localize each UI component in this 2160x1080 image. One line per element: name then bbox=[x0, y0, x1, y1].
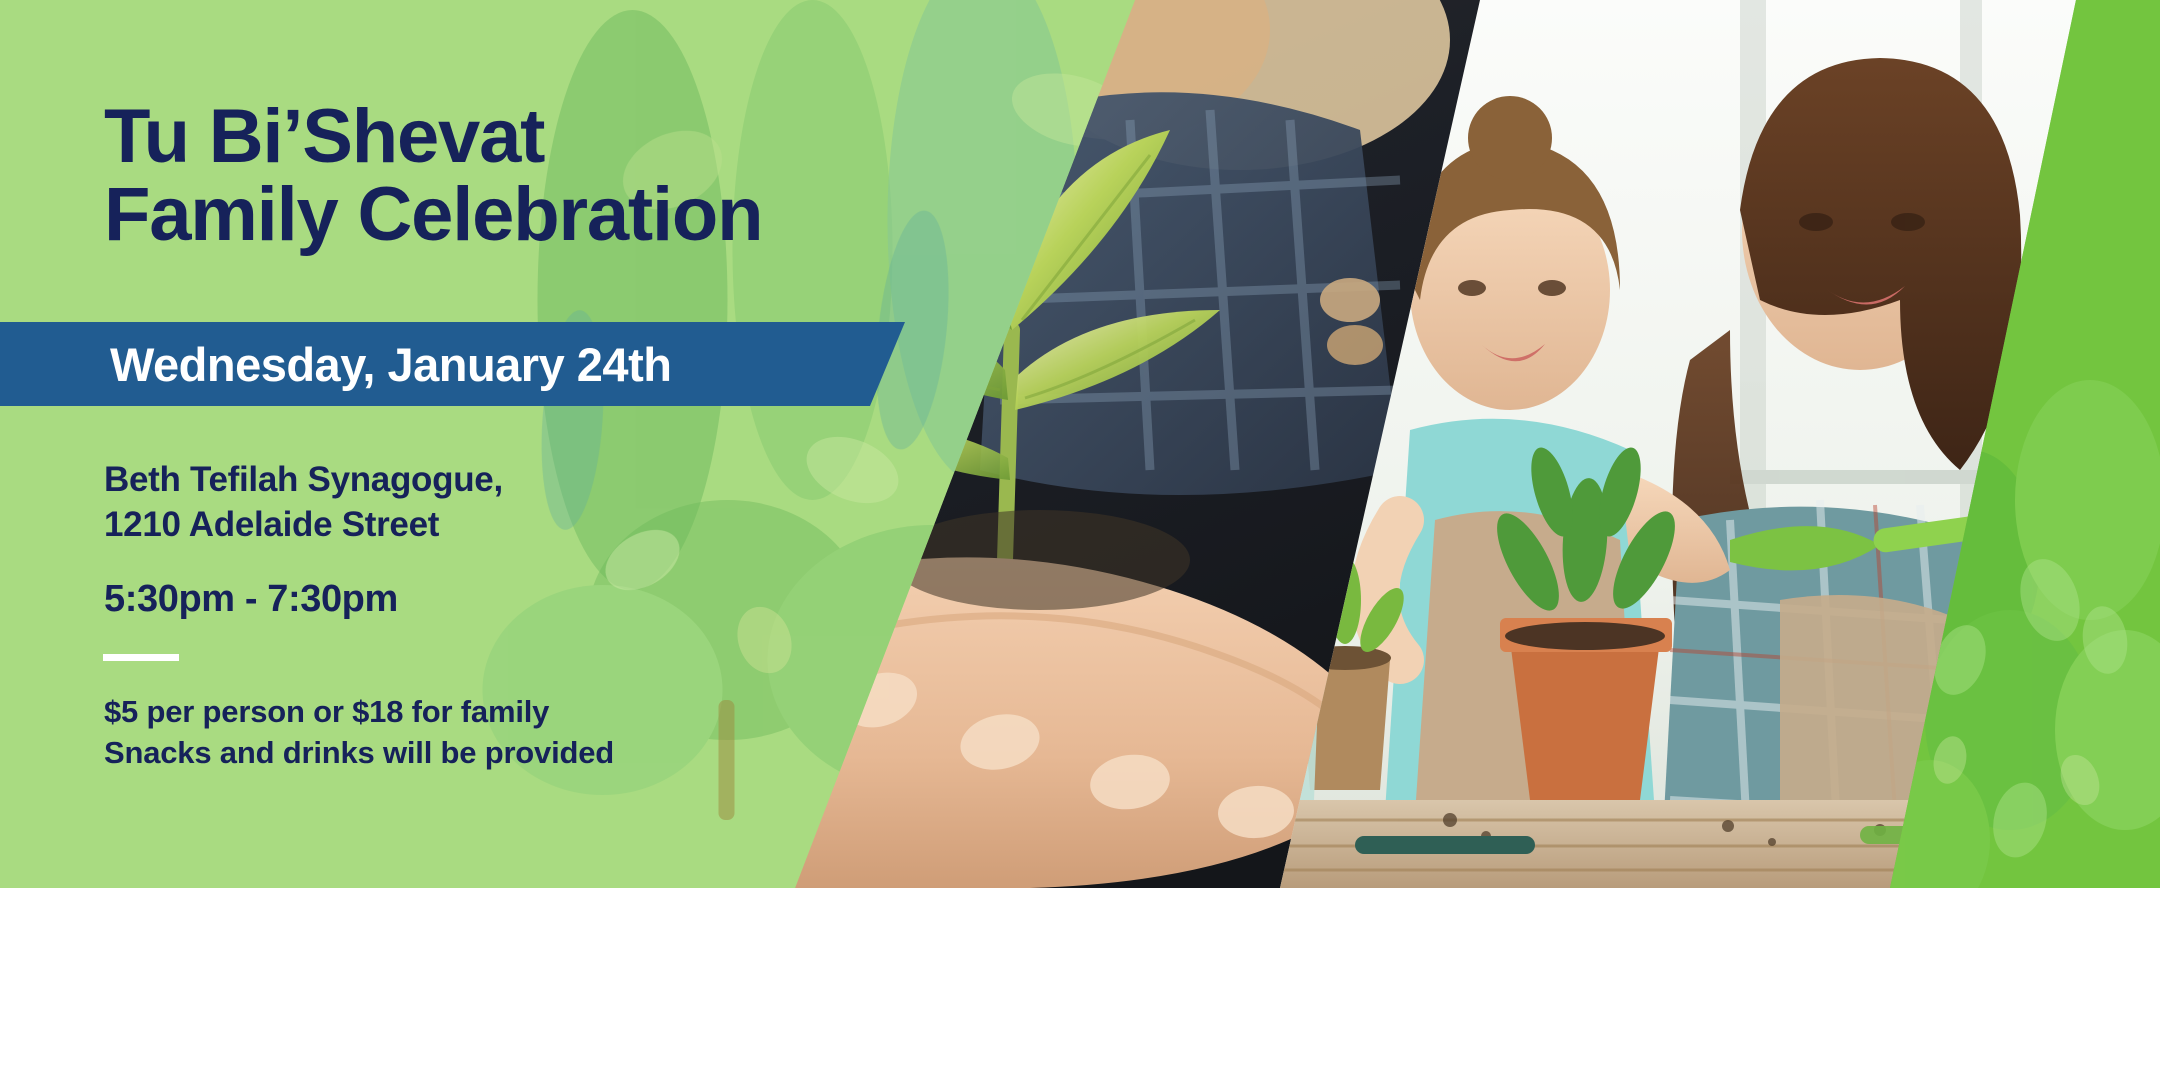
divider-rule bbox=[103, 654, 179, 661]
footer-section: JNF FAMILIES BETH TEFILAH Proceeds will … bbox=[0, 888, 2160, 1080]
date-banner: Wednesday, January 24th bbox=[0, 322, 905, 406]
event-time: 5:30pm - 7:30pm bbox=[104, 578, 398, 621]
date-banner-text: Wednesday, January 24th bbox=[0, 337, 671, 392]
price-note: $5 per person or $18 for family Snacks a… bbox=[104, 692, 614, 774]
page-title: Tu Bi’Shevat Family Celebration bbox=[104, 98, 762, 253]
event-poster: Tu Bi’Shevat Family Celebration Wednesda… bbox=[0, 0, 2160, 1080]
venue-address: Beth Tefilah Synagogue, 1210 Adelaide St… bbox=[104, 458, 503, 548]
hero-section: Tu Bi’Shevat Family Celebration Wednesda… bbox=[0, 0, 2160, 888]
